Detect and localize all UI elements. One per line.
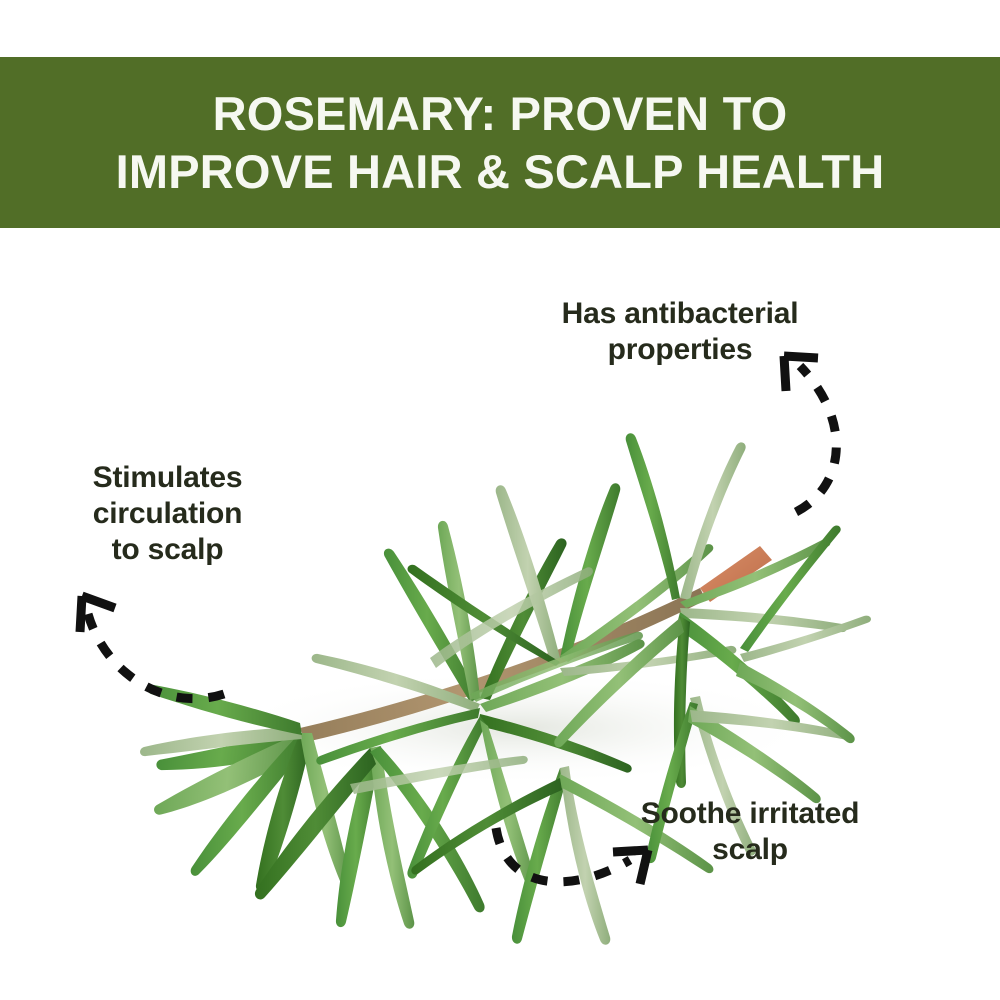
infographic-canvas: ROSEMARY: PROVEN TO IMPROVE HAIR & SCALP… — [0, 0, 1000, 1000]
callout-soothe-label: Soothe irritated scalp — [590, 796, 910, 868]
callout-antibacterial-label: Has antibacterial properties — [500, 296, 860, 368]
page-title: ROSEMARY: PROVEN TO IMPROVE HAIR & SCALP… — [96, 85, 905, 200]
header-banner: ROSEMARY: PROVEN TO IMPROVE HAIR & SCALP… — [0, 57, 1000, 228]
callout-circulation-label: Stimulates circulation to scalp — [45, 460, 290, 568]
